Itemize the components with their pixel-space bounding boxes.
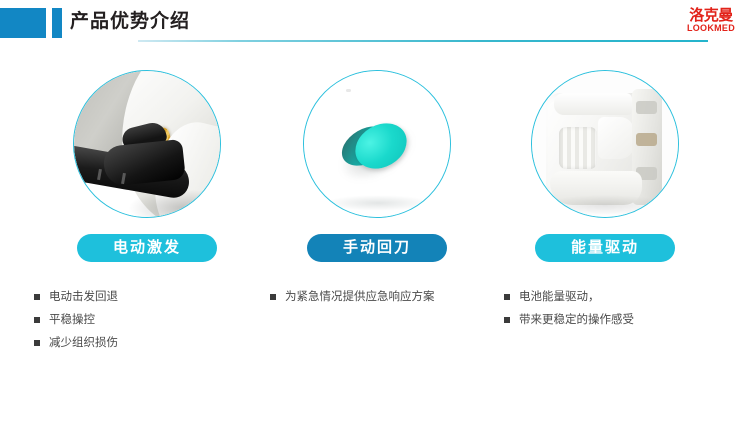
feature-bullet-list-1: 电动击发回退 平稳操控 减少组织损伤 [34,290,249,359]
manual-knife-return-button-photo [304,71,450,217]
list-item: 电池能量驱动， [504,290,724,304]
list-item: 平稳操控 [34,313,249,327]
circle-border-3 [531,70,679,218]
list-item: 带来更稳定的操作感受 [504,313,724,327]
bullet-square-icon [504,317,510,323]
list-item: 为紧急情况提供应急响应方案 [270,290,492,304]
feature-label-button-energy-drive[interactable]: 能量驱动 [535,234,675,262]
feature-image-frame-3 [531,70,679,218]
header-divider-rule [138,40,708,42]
circle-border-2 [303,70,451,218]
list-item: 电动击发回退 [34,290,249,304]
feature-column-energy-drive: 能量驱动 电池能量驱动， 带来更稳定的操作感受 [490,62,720,262]
bullet-text: 电动击发回退 [49,290,118,304]
brand-logo: 洛克曼 LOOKMED [680,8,742,33]
brand-logo-chinese: 洛克曼 [680,8,742,23]
feature-column-electric-firing: 电动激发 电动击发回退 平稳操控 减少组织损伤 [32,62,262,262]
brand-logo-english: LOOKMED [680,24,742,33]
bullet-square-icon [504,294,510,300]
header-accent-block-large [0,8,46,38]
bullet-text: 为紧急情况提供应急响应方案 [285,290,435,304]
page-header: 产品优势介绍 洛克曼 LOOKMED [0,0,750,52]
list-item: 减少组织损伤 [34,336,249,350]
feature-label-button-manual-knife-return[interactable]: 手动回刀 [307,234,447,262]
bullet-text: 减少组织损伤 [49,336,118,350]
bullet-text: 带来更稳定的操作感受 [519,313,634,327]
feature-column-manual-knife-return: 手动回刀 为紧急情况提供应急响应方案 [262,62,492,262]
feature-image-frame-1 [73,70,221,218]
header-accent-block-small [52,8,62,38]
page-title: 产品优势介绍 [70,9,190,35]
feature-bullet-list-2: 为紧急情况提供应急响应方案 [270,290,492,313]
feature-bullet-list-3: 电池能量驱动， 带来更稳定的操作感受 [504,290,724,336]
bullet-square-icon [270,294,276,300]
battery-power-unit-photo [532,71,678,217]
feature-image-frame-2 [303,70,451,218]
circle-border-1 [73,70,221,218]
feature-label-button-electric-firing[interactable]: 电动激发 [77,234,217,262]
electric-firing-trigger-photo [74,71,220,217]
bullet-text: 电池能量驱动， [519,290,600,304]
bullet-square-icon [34,340,40,346]
bullet-text: 平稳操控 [49,313,95,327]
feature-columns: 电动激发 电动击发回退 平稳操控 减少组织损伤 [0,62,750,362]
bullet-square-icon [34,294,40,300]
bullet-square-icon [34,317,40,323]
